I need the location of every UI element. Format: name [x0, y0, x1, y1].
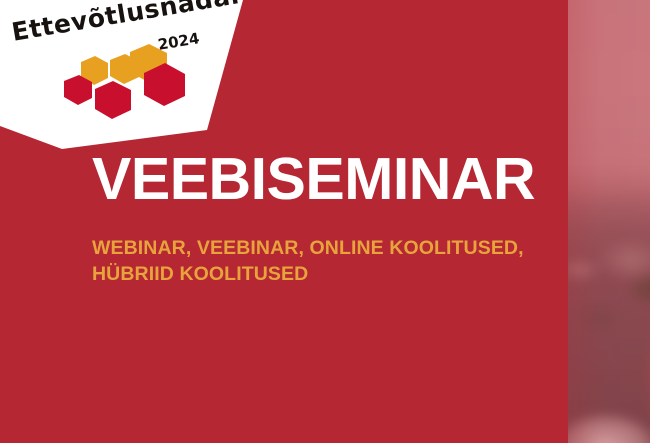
photo-gradient-overlay — [566, 0, 650, 443]
logo-badge-shape — [0, 0, 250, 160]
headline-block: VEEBISEMINAR WEBINAR, VEEBINAR, ONLINE K… — [92, 150, 562, 288]
page-subtitle: WEBINAR, VEEBINAR, ONLINE KOOLITUSED, HÜ… — [92, 209, 562, 288]
promo-banner: Ettevõtlusnädal 2024 VEEBISEMINAR WEBINA… — [0, 0, 650, 443]
page-title: VEEBISEMINAR — [92, 150, 562, 209]
background-photo — [566, 0, 650, 443]
